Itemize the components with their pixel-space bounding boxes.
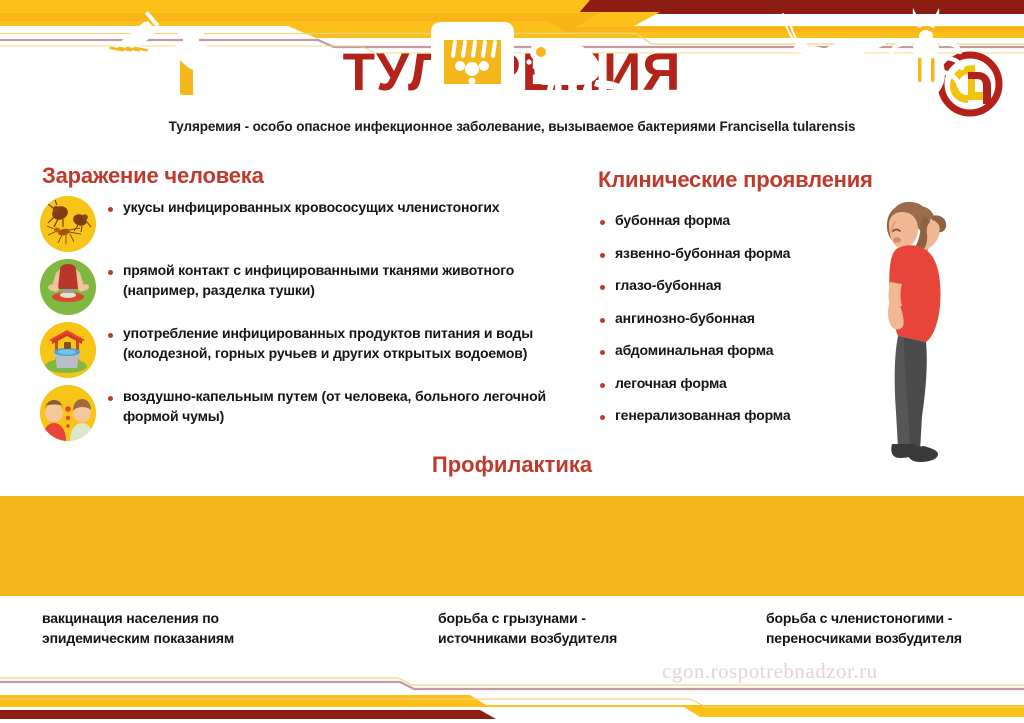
list-item-label: воздушно-капельным путем (от человека, б… <box>123 385 560 427</box>
section-heading-infection: Заражение человека <box>42 163 264 189</box>
tick-icon <box>890 8 962 98</box>
bullet-dot <box>600 415 605 420</box>
prevention-band <box>0 496 1024 596</box>
list-item: генерализованная форма <box>600 407 860 423</box>
clinical-list: бубонная форма язвенно-бубонная форма гл… <box>600 212 860 440</box>
list-item-label: прямой контакт с инфицированными тканями… <box>123 259 560 301</box>
bullet-dot <box>108 207 113 212</box>
mouse-icon <box>526 42 622 94</box>
list-item: легочная форма <box>600 375 860 391</box>
bullet-dot <box>600 318 605 323</box>
caption-line: переносчиками возбудителя <box>766 628 962 648</box>
airborne-transmission-icon <box>40 385 96 441</box>
list-item: ангинозно-бубонная <box>600 310 860 326</box>
infographic-page: ТУЛЯРЕМИЯ Туляремия - особо опасное инфе… <box>0 0 1024 723</box>
list-item: бубонная форма <box>600 212 860 228</box>
section-heading-prevention: Профилактика <box>0 452 1024 478</box>
list-item: абдоминальная форма <box>600 342 860 358</box>
prevention-caption: борьба с грызунами - источниками возбуди… <box>438 608 617 649</box>
list-item-label: генерализованная форма <box>615 407 790 423</box>
prevention-caption: вакцинация населения по эпидемическим по… <box>42 608 234 649</box>
list-item-label: легочная форма <box>615 375 727 391</box>
butchering-animal-icon <box>40 259 96 315</box>
list-item-label: абдоминальная форма <box>615 342 773 358</box>
bullet-dot <box>600 350 605 355</box>
list-item: язвенно-бубонная форма <box>600 245 860 261</box>
list-item-label: употребление инфицированных продуктов пи… <box>123 322 560 364</box>
list-item-label: бубонная форма <box>615 212 730 228</box>
bullet-dot <box>600 220 605 225</box>
caption-line: вакцинация населения по <box>42 608 234 628</box>
list-item: употребление инфицированных продуктов пи… <box>40 322 560 378</box>
page-subtitle: Туляремия - особо опасное инфекционное з… <box>0 119 1024 134</box>
bullet-dot <box>108 270 113 275</box>
bullet-dot <box>108 396 113 401</box>
list-item: укусы инфицированных кровососущих членис… <box>40 196 560 252</box>
bullet-dot <box>600 383 605 388</box>
water-well-icon <box>40 322 96 378</box>
vaccine-bottle-icon <box>175 28 207 97</box>
rodent-trap-icon <box>431 22 514 97</box>
sick-person-holding-neck-illustration <box>846 186 986 476</box>
prevention-caption: борьба с членистоногими - переносчиками … <box>766 608 962 649</box>
infection-list: укусы инфицированных кровососущих членис… <box>40 196 560 448</box>
list-item: прямой контакт с инфицированными тканями… <box>40 259 560 315</box>
list-item-label: ангинозно-бубонная <box>615 310 755 326</box>
caption-line: источниками возбудителя <box>438 628 617 648</box>
bullet-dot <box>108 333 113 338</box>
prevention-icon-row <box>0 0 1024 100</box>
list-item-label: укусы инфицированных кровососущих членис… <box>123 196 499 218</box>
footer-decoration <box>0 677 1024 723</box>
footer-dark-red-stripe <box>0 710 496 719</box>
bullet-dot <box>600 253 605 258</box>
caption-line: борьба с грызунами - <box>438 608 617 628</box>
list-item: воздушно-капельным путем (от человека, б… <box>40 385 560 441</box>
caption-line: борьба с членистоногими - <box>766 608 962 628</box>
syringe-icon <box>94 11 159 71</box>
list-item-label: глазо-бубонная <box>615 277 721 293</box>
mosquito-icon <box>783 14 886 96</box>
list-item: глазо-бубонная <box>600 277 860 293</box>
bullet-dot <box>600 285 605 290</box>
insect-bite-icon <box>40 196 96 252</box>
list-item-label: язвенно-бубонная форма <box>615 245 790 261</box>
caption-line: эпидемическим показаниям <box>42 628 234 648</box>
section-heading-clinical: Клинические проявления <box>598 167 873 193</box>
